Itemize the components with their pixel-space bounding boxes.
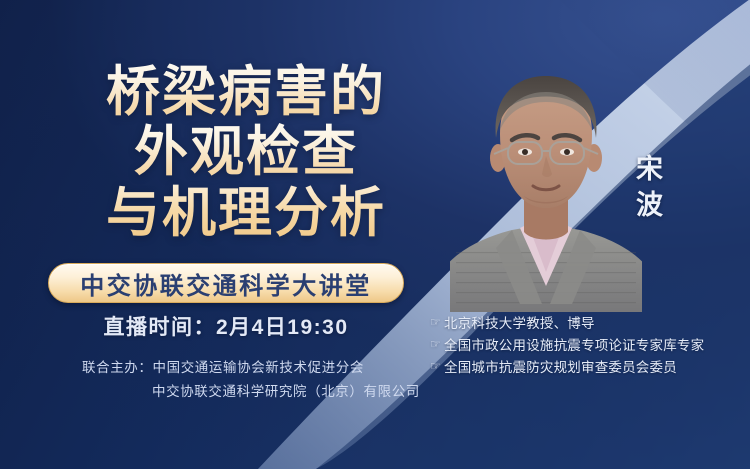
speaker-credentials: ☞ 北京科技大学教授、博导 ☞ 全国市政公用设施抗震专项论证专家库专家 ☞ 全国… [430,313,748,379]
live-time: 直播时间：2月4日19:30 [48,311,404,341]
speaker-portrait [450,72,642,312]
organizer-line-2: 中交协联交通科学研究院（北京）有限公司 [60,380,432,404]
credential-item: ☞ 全国市政公用设施抗震专项论证专家库专家 [430,335,748,357]
title-line-1: 桥梁病害的 [56,62,436,122]
credential-item: ☞ 北京科技大学教授、博导 [430,313,748,335]
pointing-hand-icon: ☞ [430,357,443,376]
organizers: 联合主办：中国交通运输协会新技术促进分会 中交协联交通科学研究院（北京）有限公司 [60,356,432,403]
pointing-hand-icon: ☞ [430,313,443,332]
series-badge-label: 中交协联交通科学大讲堂 [80,266,372,301]
pointing-hand-icon: ☞ [430,335,443,354]
series-badge: 中交协联交通科学大讲堂 [48,263,404,303]
organizer-line-1: 联合主办：中国交通运输协会新技术促进分会 [60,356,432,380]
title-line-2: 外观检查 [56,122,436,182]
credential-text: 北京科技大学教授、博导 [444,313,595,335]
credential-text: 全国城市抗震防灾规划审查委员会委员 [444,357,677,379]
webinar-poster: 宋 波 桥梁病害的 外观检查 与机理分析 中交协联交通科学大讲堂 直播时间：2月… [0,0,750,469]
credential-item: ☞ 全国城市抗震防灾规划审查委员会委员 [430,357,748,379]
speaker-name: 宋 波 [628,152,672,223]
speaker-name-char-2: 波 [628,188,672,224]
title-line-3: 与机理分析 [56,183,436,243]
credential-text: 全国市政公用设施抗震专项论证专家库专家 [444,335,704,357]
speaker-name-char-1: 宋 [628,152,672,188]
poster-title: 桥梁病害的 外观检查 与机理分析 [56,62,436,243]
